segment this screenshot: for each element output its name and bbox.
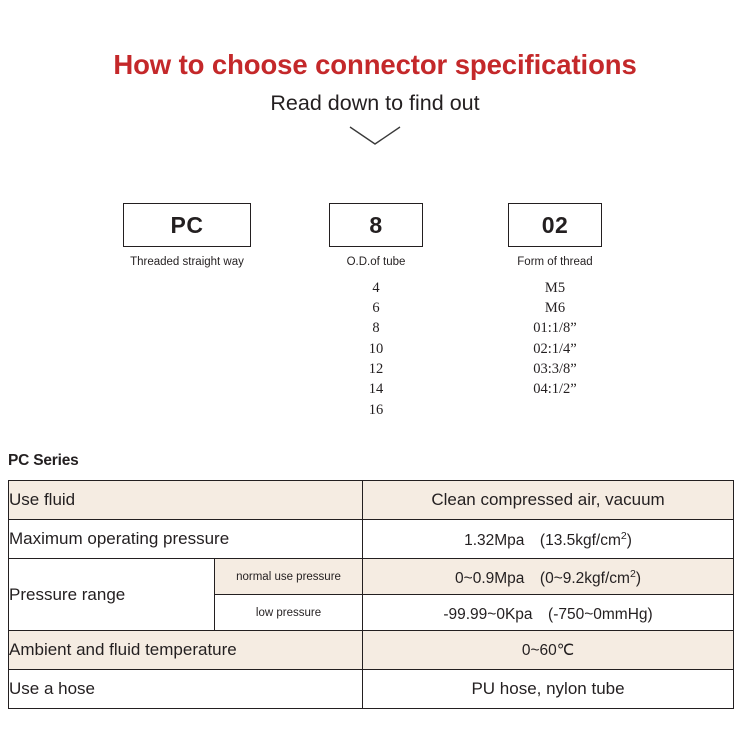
row-label-use-a-hose: Use a hose [9, 670, 363, 709]
code-column-thread: 02 Form of thread M5 M6 01:1/8” 02:1/4” … [508, 203, 602, 400]
row-label-pressure-range: Pressure range [9, 559, 215, 631]
table-row: Use fluid Clean compressed air, vacuum [9, 481, 734, 520]
code-column-od: 8 O.D.of tube 4 6 8 10 12 14 16 [329, 203, 423, 420]
value-text-suffix: ) [627, 532, 632, 549]
code-caption-series: Threaded straight way [123, 256, 251, 270]
list-item: M6 [508, 298, 602, 318]
list-item: 12 [329, 359, 423, 379]
code-column-series: PC Threaded straight way [123, 203, 251, 270]
list-item: 04:1/2” [508, 379, 602, 399]
row-label-use-fluid: Use fluid [9, 481, 363, 520]
code-box-thread: 02 [508, 203, 602, 247]
code-box-thread-value: 02 [542, 212, 569, 239]
table-row: Ambient and fluid temperature 0~60℃ [9, 631, 734, 670]
list-item: 01:1/8” [508, 318, 602, 338]
value-text: 1.32Mpa (13.5kgf/cm [464, 532, 621, 549]
table-row: Pressure range normal use pressure 0~0.9… [9, 559, 734, 595]
code-breakdown-section: PC Threaded straight way 8 O.D.of tube 4… [0, 203, 750, 443]
chevron-down-icon [0, 125, 750, 149]
page-subtitle: Read down to find out [0, 80, 750, 116]
series-label: PC Series [8, 452, 79, 470]
code-box-series-value: PC [171, 212, 204, 239]
row-label-ambient-temperature: Ambient and fluid temperature [9, 631, 363, 670]
code-caption-od: O.D.of tube [329, 256, 423, 270]
value-text-suffix: ) [636, 570, 641, 587]
code-box-od: 8 [329, 203, 423, 247]
list-item: 10 [329, 339, 423, 359]
code-box-series: PC [123, 203, 251, 247]
list-item: 16 [329, 400, 423, 420]
code-option-list-thread: M5 M6 01:1/8” 02:1/4” 03:3/8” 04:1/2” [508, 278, 602, 400]
list-item: 03:3/8” [508, 359, 602, 379]
code-option-list-od: 4 6 8 10 12 14 16 [329, 278, 423, 420]
list-item: 02:1/4” [508, 339, 602, 359]
list-item: M5 [508, 278, 602, 298]
row-sublabel-low-pressure: low pressure [215, 595, 363, 631]
table-row: Use a hose PU hose, nylon tube [9, 670, 734, 709]
page-title: How to choose connector specifications [0, 0, 750, 80]
header-block: How to choose connector specifications R… [0, 0, 750, 149]
row-value-normal-use-pressure: 0~0.9Mpa (0~9.2kgf/cm2) [363, 559, 734, 595]
spec-table: Use fluid Clean compressed air, vacuum M… [8, 480, 734, 709]
list-item: 6 [329, 298, 423, 318]
list-item: 8 [329, 318, 423, 338]
row-sublabel-normal-use-pressure: normal use pressure [215, 559, 363, 595]
list-item: 4 [329, 278, 423, 298]
row-value-max-operating-pressure: 1.32Mpa (13.5kgf/cm2) [363, 520, 734, 559]
row-label-max-operating-pressure: Maximum operating pressure [9, 520, 363, 559]
row-value-ambient-temperature: 0~60℃ [363, 631, 734, 670]
list-item: 14 [329, 379, 423, 399]
row-value-use-fluid: Clean compressed air, vacuum [363, 481, 734, 520]
value-text: 0~0.9Mpa (0~9.2kgf/cm [455, 570, 630, 587]
code-box-od-value: 8 [369, 212, 382, 239]
row-value-use-a-hose: PU hose, nylon tube [363, 670, 734, 709]
row-value-low-pressure: -99.99~0Kpa (-750~0mmHg) [363, 595, 734, 631]
code-caption-thread: Form of thread [508, 256, 602, 270]
table-row: Maximum operating pressure 1.32Mpa (13.5… [9, 520, 734, 559]
